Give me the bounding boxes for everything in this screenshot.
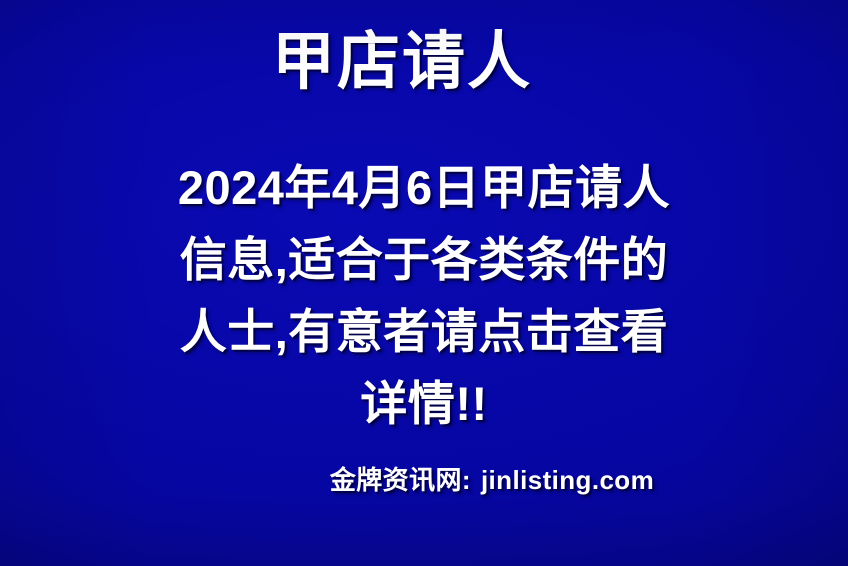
banner-body-text: 2024年4月6日甲店请人 信息,适合于各类条件的 人士,有意者请点击查看 详情… xyxy=(104,152,744,440)
body-line-1: 2024年4月6日甲店请人 xyxy=(104,152,744,224)
body-line-3: 人士,有意者请点击查看 xyxy=(104,296,744,368)
footer-site-name: 金牌资讯网: xyxy=(330,465,471,495)
footer-site-url: jinlisting.com xyxy=(481,465,654,495)
promo-banner: 甲店请人 2024年4月6日甲店请人 信息,适合于各类条件的 人士,有意者请点击… xyxy=(0,0,848,566)
banner-footer: 金牌资讯网:jinlisting.com xyxy=(0,460,848,497)
banner-headline: 甲店请人 xyxy=(0,29,848,96)
body-line-2: 信息,适合于各类条件的 xyxy=(104,224,744,296)
body-line-4: 详情!! xyxy=(104,368,744,440)
